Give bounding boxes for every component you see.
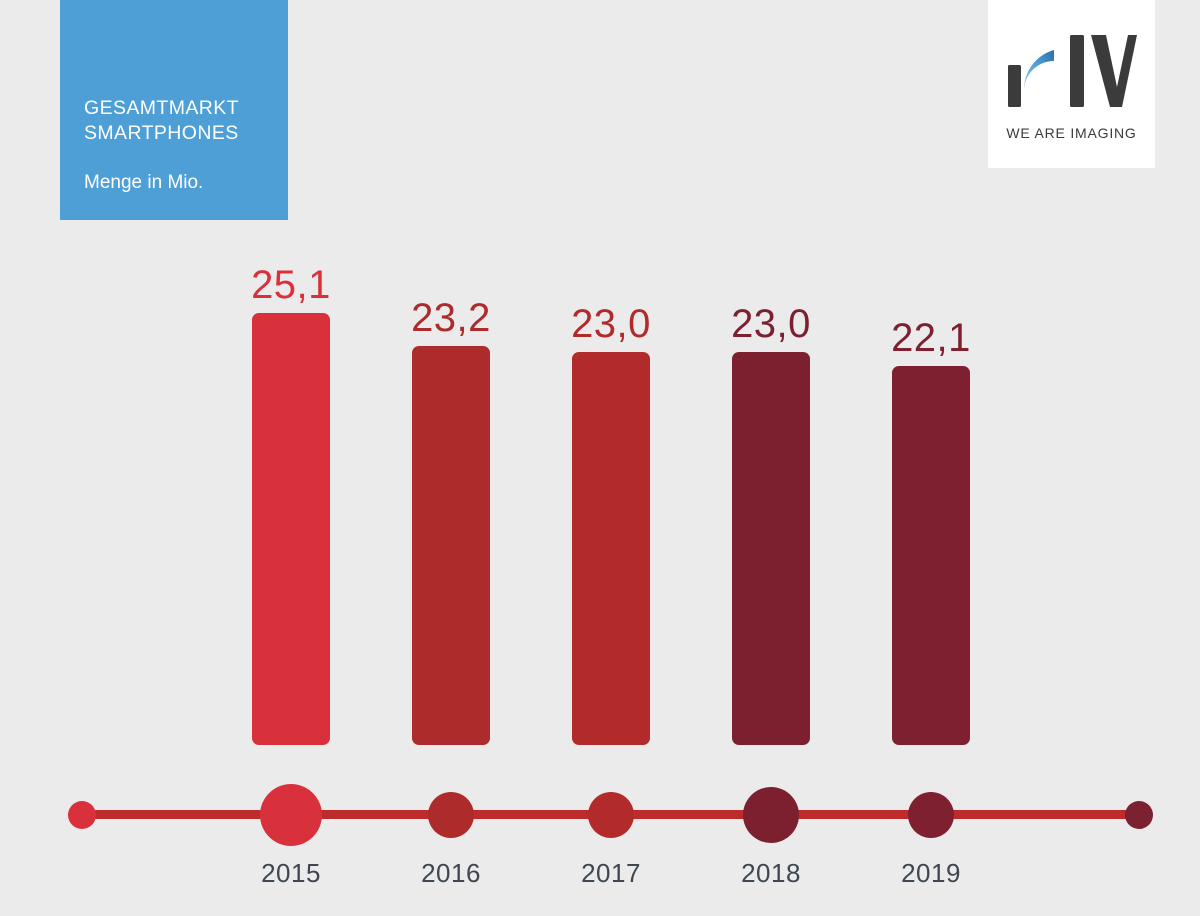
bar-value-label: 22,1 xyxy=(870,318,992,358)
bar-chart: 25,123,223,023,022,1 xyxy=(0,0,1200,916)
bar-value-label: 23,0 xyxy=(710,304,832,344)
bar-group: 23,0 xyxy=(572,352,650,745)
bar-value-label: 25,1 xyxy=(230,265,352,305)
bar xyxy=(412,346,490,745)
bar xyxy=(732,352,810,745)
bar-group: 23,0 xyxy=(732,352,810,745)
bar-value-label: 23,0 xyxy=(550,304,672,344)
bar xyxy=(892,366,970,745)
bar-value-label: 23,2 xyxy=(390,298,512,338)
bar-group: 25,1 xyxy=(252,313,330,745)
bar-group: 22,1 xyxy=(892,366,970,745)
bar xyxy=(572,352,650,745)
bar xyxy=(252,313,330,745)
bar-group: 23,2 xyxy=(412,346,490,745)
